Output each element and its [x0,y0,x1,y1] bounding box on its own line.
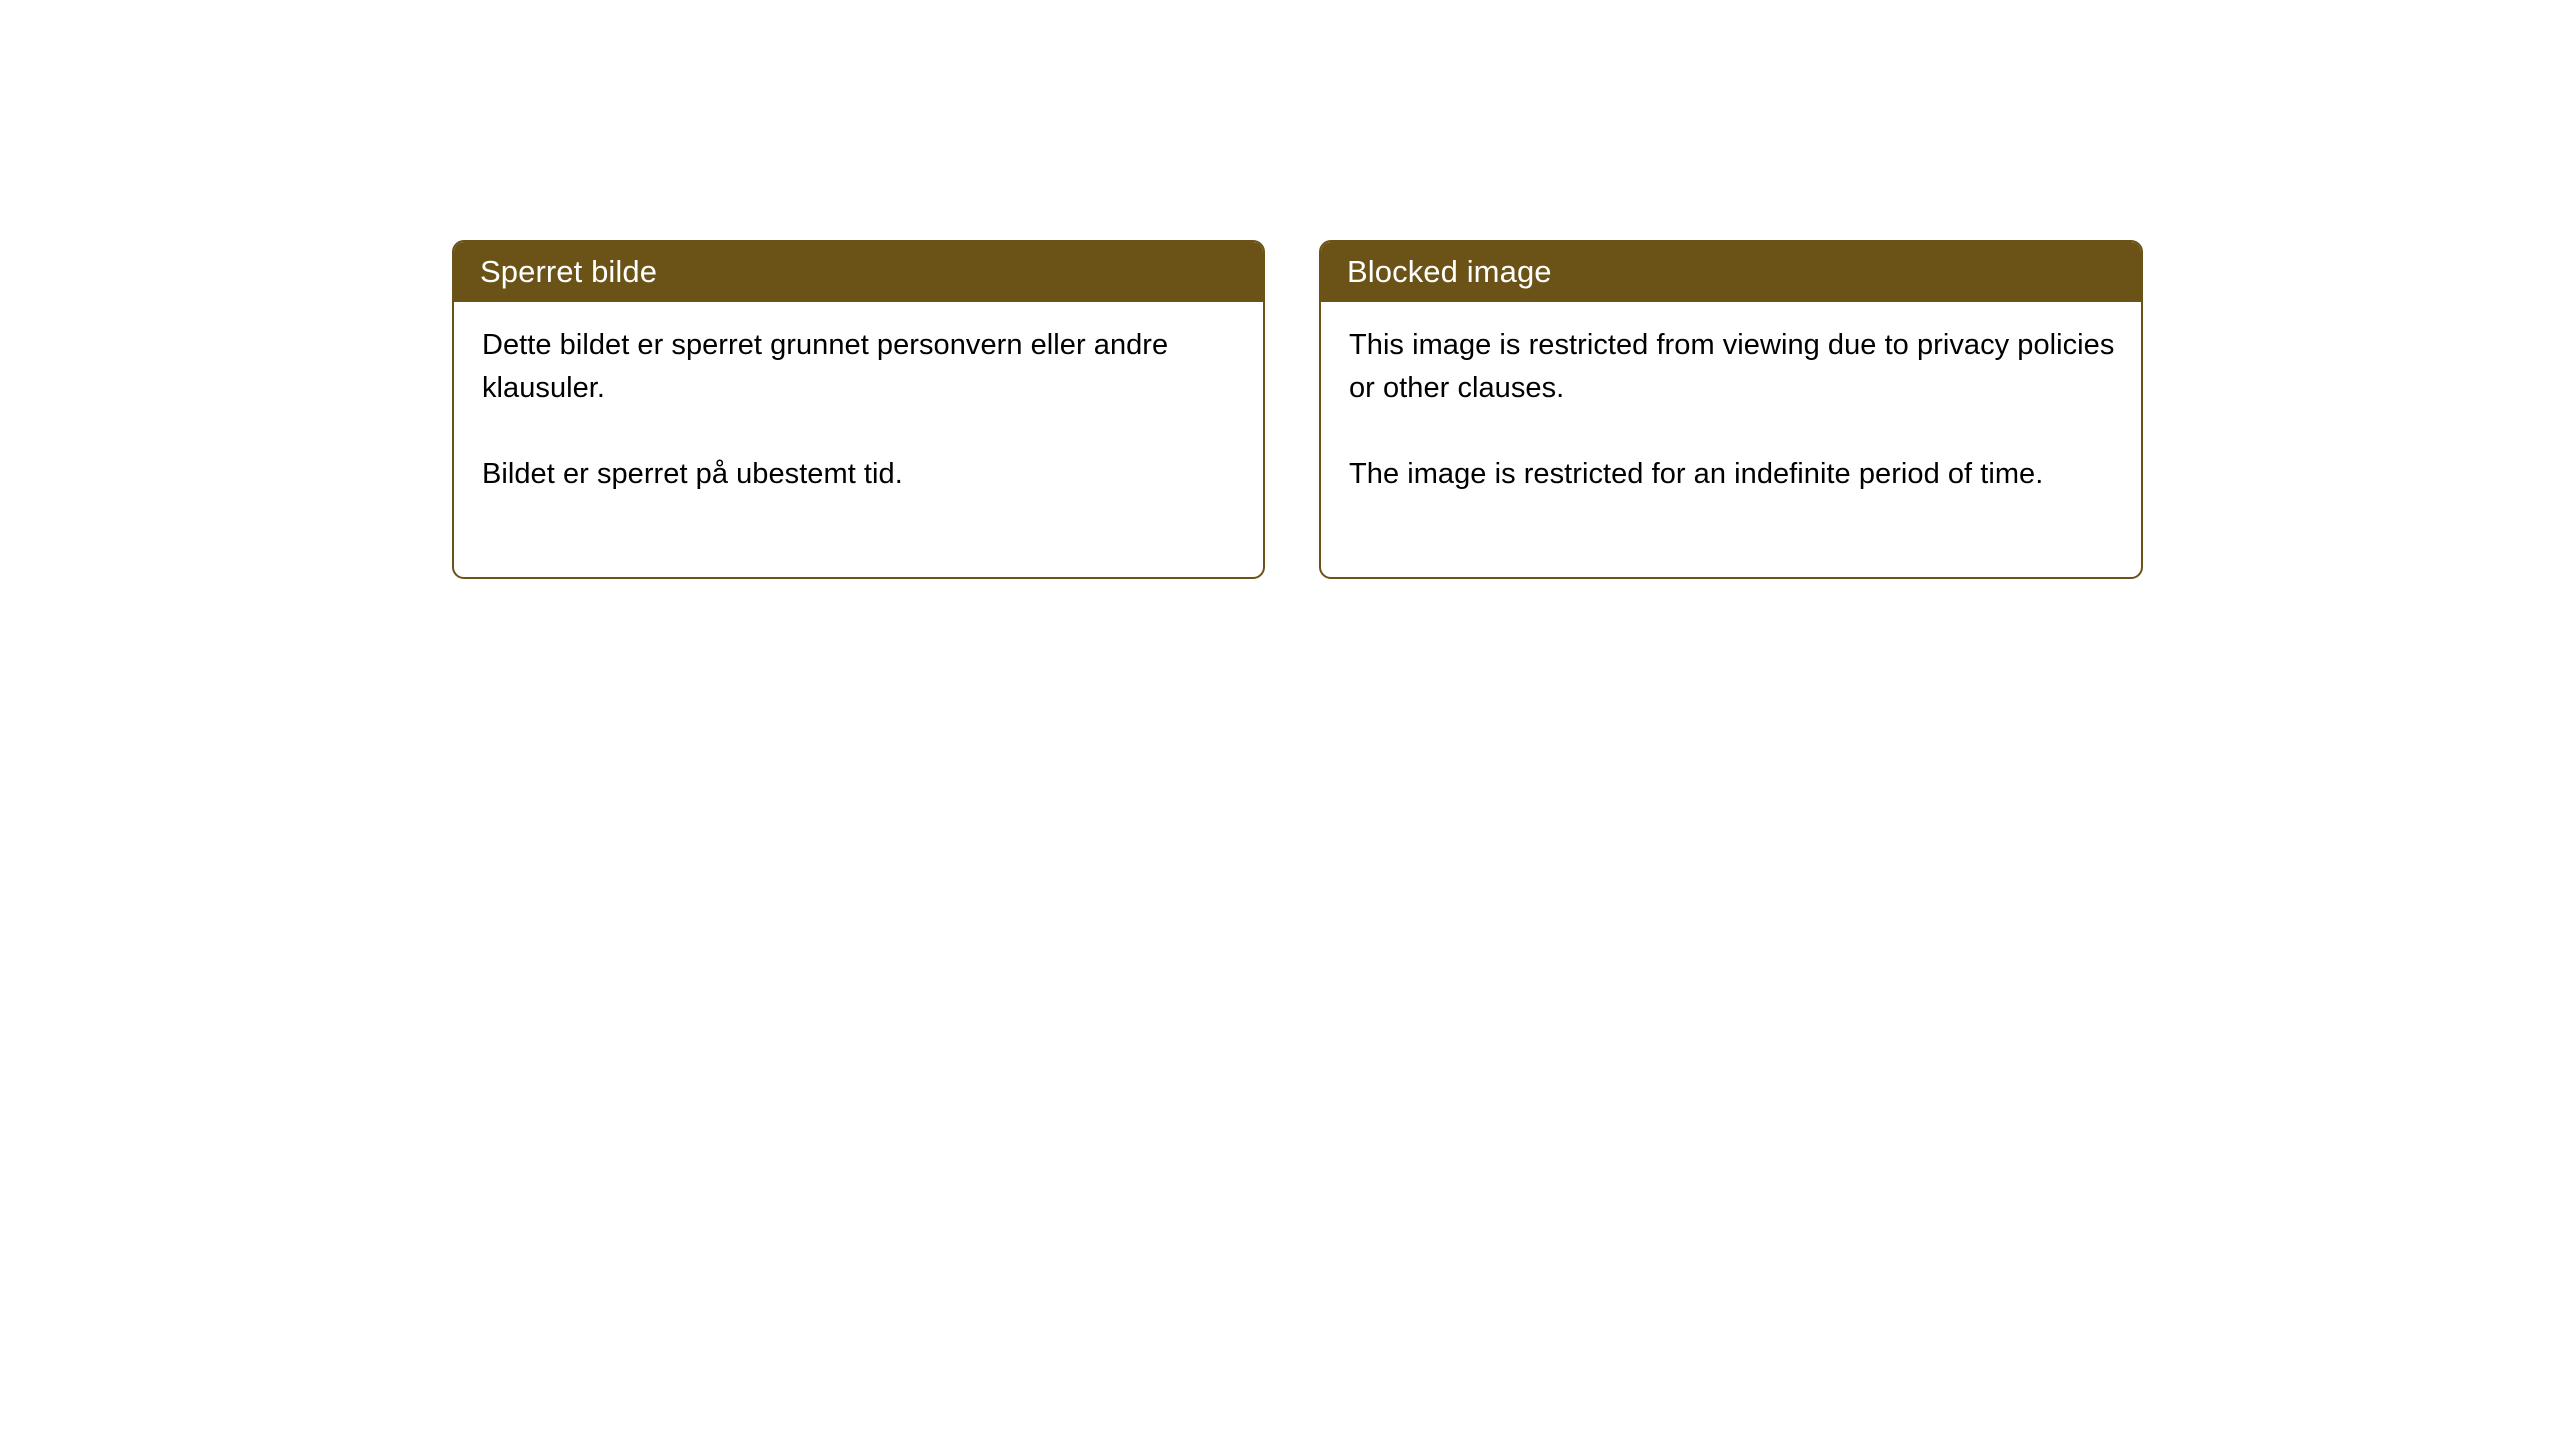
card-paragraph-secondary-norwegian: Bildet er sperret på ubestemt tid. [482,453,1237,496]
card-title-norwegian: Sperret bilde [480,254,657,290]
card-body-english: This image is restricted from viewing du… [1321,302,2141,577]
blocked-image-card-norwegian: Sperret bilde Dette bildet er sperret gr… [452,240,1265,579]
card-header-norwegian: Sperret bilde [454,242,1263,302]
card-paragraph-primary-english: This image is restricted from viewing du… [1349,324,2115,410]
blocked-image-card-english: Blocked image This image is restricted f… [1319,240,2143,579]
card-body-norwegian: Dette bildet er sperret grunnet personve… [454,302,1263,577]
card-paragraph-secondary-english: The image is restricted for an indefinit… [1349,453,2115,496]
card-header-english: Blocked image [1321,242,2141,302]
card-title-english: Blocked image [1347,254,1552,290]
card-paragraph-primary-norwegian: Dette bildet er sperret grunnet personve… [482,324,1237,410]
paragraph-spacer [482,410,1237,453]
paragraph-spacer [1349,410,2115,453]
blocked-image-notice-group: Sperret bilde Dette bildet er sperret gr… [452,240,2143,579]
